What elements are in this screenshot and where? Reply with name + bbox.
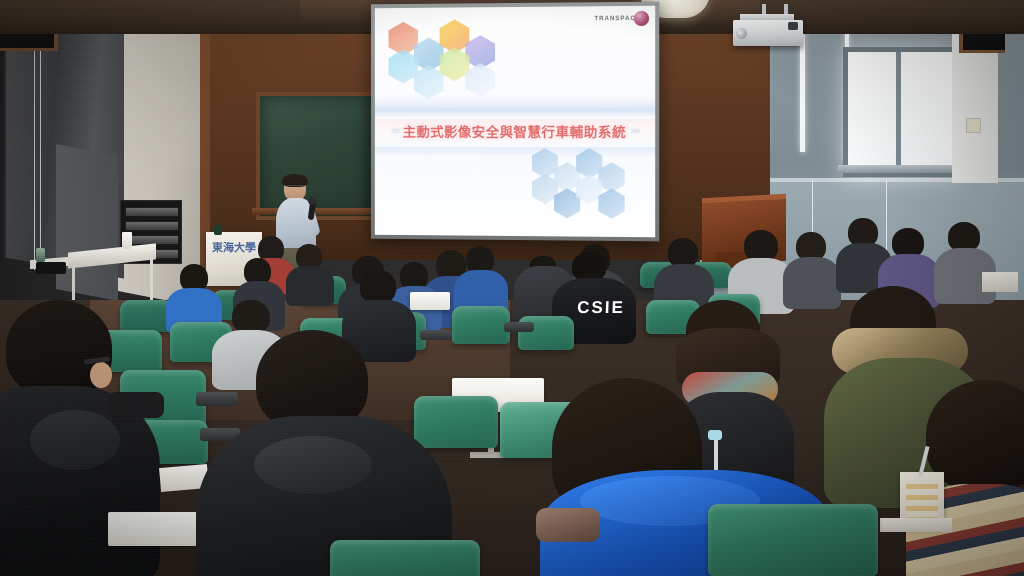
armrest xyxy=(196,392,238,406)
seat[interactable] xyxy=(120,300,172,332)
projector-lens-icon xyxy=(736,28,747,39)
chalkboard xyxy=(256,92,376,220)
microphone-head-icon xyxy=(308,197,316,205)
handbag xyxy=(536,508,600,542)
wall-outlet-icon[interactable] xyxy=(966,118,981,133)
slide-band xyxy=(375,103,655,117)
armrest xyxy=(420,330,452,340)
hoodie-hood xyxy=(254,436,372,494)
armrest xyxy=(504,322,534,332)
paper-cup xyxy=(122,232,132,249)
desk-paper xyxy=(982,272,1018,292)
hoodie-hood xyxy=(30,410,120,470)
slide-chevrons-right: »» xyxy=(630,125,638,137)
seat[interactable] xyxy=(330,540,480,576)
csie-jacket-text: CSIE xyxy=(568,298,635,318)
table-leg xyxy=(150,258,153,306)
window-right xyxy=(843,47,957,177)
tablet-desk[interactable] xyxy=(410,292,450,310)
top-left-hex-cluster xyxy=(389,21,498,99)
seat[interactable] xyxy=(708,504,878,576)
blind-cord[interactable] xyxy=(40,20,41,270)
slide-title-text: 主動式影像安全與智慧行車輔助系統 xyxy=(403,121,626,141)
student-ear xyxy=(90,362,112,388)
slide-title-row: «« 主動式影像安全與智慧行車輔助系統 »» xyxy=(375,119,655,143)
cup-lid xyxy=(708,430,722,440)
projection-screen: «« 主動式影像安全與智慧行車輔助系統 »» TRANSPACE xyxy=(371,2,659,242)
bottle xyxy=(36,248,45,262)
seat[interactable] xyxy=(414,396,498,448)
tablet-desk[interactable] xyxy=(880,518,952,532)
projector-knob xyxy=(788,22,798,30)
slide-chevrons-left: «« xyxy=(391,125,399,137)
bag xyxy=(108,392,164,418)
seat[interactable] xyxy=(452,306,510,344)
logo-sphere-icon xyxy=(634,11,649,26)
podium-bottle xyxy=(214,225,222,235)
student-head xyxy=(256,330,368,430)
presenter-glasses-icon xyxy=(287,185,303,190)
black-case xyxy=(36,262,66,274)
blinds-left-lower xyxy=(56,144,118,301)
lecture-hall-photo: «« 主動式影像安全與智慧行車輔助系統 »» TRANSPACE 東海大學 xyxy=(0,0,1024,576)
blind-cord[interactable] xyxy=(34,20,35,270)
presentation-slide: «« 主動式影像安全與智慧行車輔助系統 »» TRANSPACE xyxy=(375,6,655,238)
window-sill xyxy=(838,165,954,173)
bottom-right-hex-cluster xyxy=(530,148,647,221)
drinking-straw xyxy=(714,436,718,470)
transpace-logo: TRANSPACE xyxy=(594,11,649,27)
tablet-desk[interactable] xyxy=(108,512,200,546)
window-sash xyxy=(896,52,901,172)
